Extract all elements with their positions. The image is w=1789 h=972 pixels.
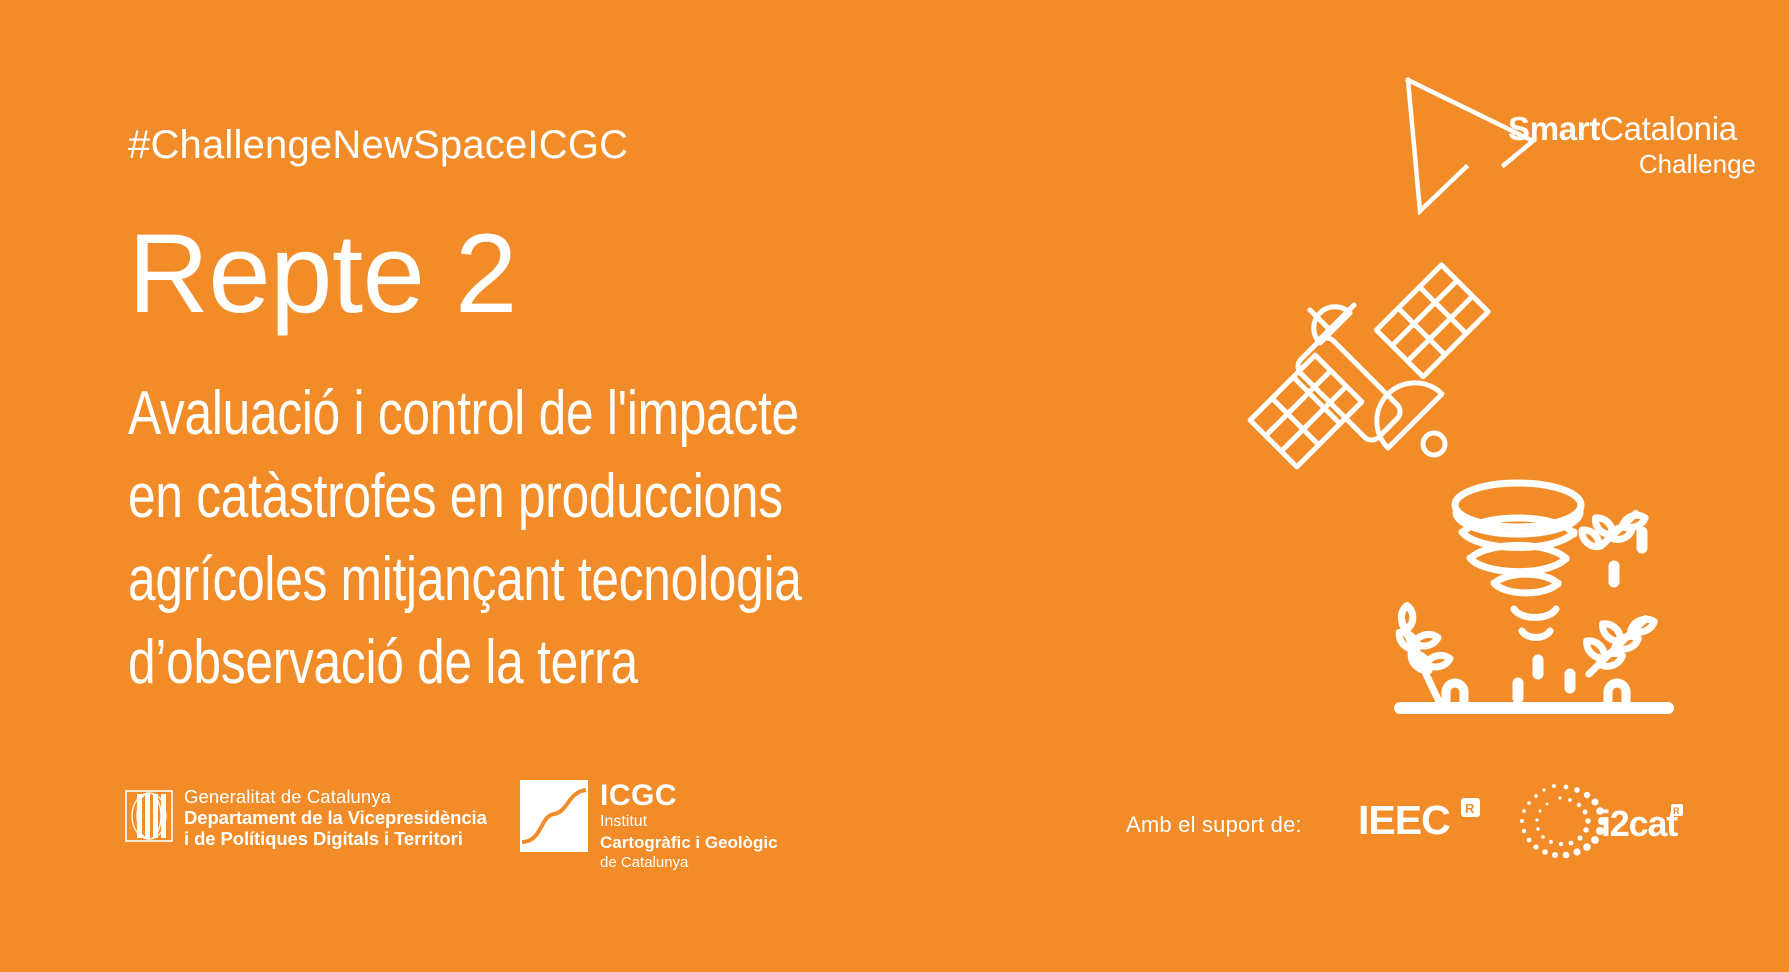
subtitle-line-1: Avaluació i control de l'impacte bbox=[128, 372, 992, 455]
promotional-poster: #ChallengeNewSpaceICGC Repte 2 Avaluació… bbox=[0, 0, 1789, 972]
smartcatalonia-wordmark: SmartCatalonia Challenge bbox=[1508, 110, 1758, 180]
svg-text:IEEC: IEEC bbox=[1358, 797, 1450, 843]
icgc-line-2: Institut bbox=[600, 812, 778, 832]
page-title: Repte 2 bbox=[128, 218, 517, 330]
subtitle-line-4: d’observació de la terra bbox=[128, 621, 992, 704]
footer: Generalitat de Catalunya Departament de … bbox=[0, 760, 1789, 910]
icgc-acronym: ICGC bbox=[600, 780, 778, 812]
smart-word: Smart bbox=[1508, 110, 1600, 147]
subtitle-line-2: en catàstrofes en produccions bbox=[128, 455, 992, 538]
tornado-crops-icon bbox=[1390, 470, 1675, 720]
i2cat-logo-icon: i2cat R bbox=[1510, 778, 1685, 860]
svg-text:i2cat: i2cat bbox=[1601, 803, 1678, 844]
catalonia-four-bars-emblem-icon bbox=[125, 790, 173, 842]
generalitat-logo: Generalitat de Catalunya Departament de … bbox=[125, 786, 487, 849]
icgc-logo: ICGC Institut Cartogràfic i Geològic de … bbox=[520, 780, 778, 872]
satellite-icon bbox=[1238, 248, 1508, 473]
smartcatalonia-name: SmartCatalonia bbox=[1508, 110, 1758, 148]
subtitle-block: Avaluació i control de l'impacte en catà… bbox=[128, 372, 1208, 704]
support-label: Amb el suport de: bbox=[1126, 812, 1302, 838]
icgc-line-3: Cartogràfic i Geològic bbox=[600, 832, 778, 853]
smartcatalonia-logo: SmartCatalonia Challenge bbox=[1400, 75, 1710, 215]
svg-text:R: R bbox=[1465, 801, 1475, 816]
generalitat-line-1: Generalitat de Catalunya bbox=[184, 786, 487, 807]
subtitle-line-3: agrícoles mitjançant tecnologia bbox=[128, 538, 992, 621]
icgc-text: ICGC Institut Cartogràfic i Geològic de … bbox=[600, 780, 778, 872]
ieec-logo-icon: IEEC R bbox=[1358, 796, 1488, 844]
generalitat-text: Generalitat de Catalunya Departament de … bbox=[184, 786, 487, 849]
svg-text:R: R bbox=[1673, 806, 1680, 816]
hashtag-text: #ChallengeNewSpaceICGC bbox=[128, 123, 628, 168]
icgc-square-curve-icon bbox=[520, 780, 588, 852]
generalitat-line-3: i de Polítiques Digitals i Territori bbox=[184, 828, 487, 849]
icgc-line-4: de Catalunya bbox=[600, 853, 778, 872]
generalitat-line-2: Departament de la Vicepresidència bbox=[184, 807, 487, 828]
catalonia-word: Catalonia bbox=[1600, 110, 1737, 147]
smartcatalonia-challenge-word: Challenge bbox=[1508, 148, 1758, 180]
